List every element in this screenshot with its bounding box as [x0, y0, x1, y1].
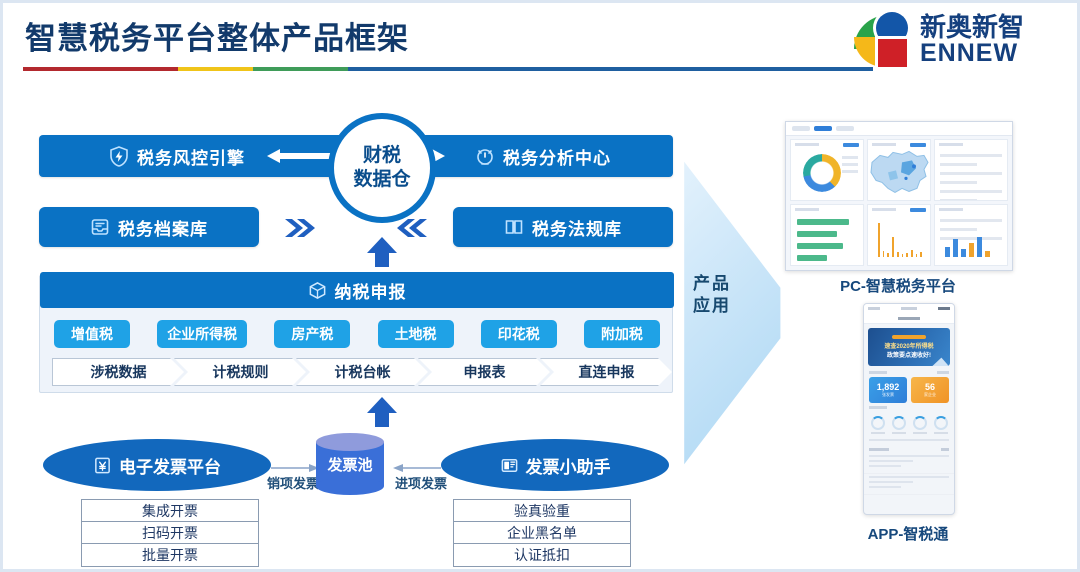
- app-phone-mockup[interactable]: 速查2020年所得税 政策要点速收好! 1,892 张发票 56 家企业: [863, 303, 955, 515]
- input-invoice-label: 进项发票: [395, 473, 447, 492]
- flow-step[interactable]: 计税规则: [174, 358, 306, 386]
- invoice-assistant-label: 发票小助手: [526, 453, 611, 478]
- invoice-pool-cylinder[interactable]: 发票池: [316, 433, 384, 495]
- banner-line-1: 速查2020年所得税: [884, 341, 933, 350]
- list-item[interactable]: 集成开票: [82, 500, 258, 522]
- rule-segment-yellow: [178, 67, 253, 71]
- e-invoice-platform-label: 电子发票平台: [119, 453, 221, 478]
- receipt-scan-icon: [500, 456, 519, 475]
- arrow-up-to-core-icon: [366, 237, 398, 267]
- pc-mock-donut-card: [790, 139, 864, 201]
- tax-regulation-button[interactable]: 税务法规库: [453, 207, 673, 247]
- archive-tray-icon: [90, 217, 110, 237]
- stat-secondary-key: 家企业: [924, 392, 936, 398]
- list-item[interactable]: [864, 453, 954, 474]
- pc-mock-grid: [790, 139, 1008, 266]
- logo-chinese-name: 新奥新智: [920, 14, 1024, 41]
- page-title: 智慧税务平台整体产品框架: [25, 13, 409, 58]
- pc-mock-pill: [836, 126, 854, 131]
- pc-dashboard-mockup[interactable]: [785, 121, 1013, 271]
- analysis-center-label: 税务分析中心: [503, 144, 611, 169]
- connector-label-line1: 产品: [693, 273, 731, 295]
- app-status-bar: [864, 304, 954, 313]
- pc-mock-bars-h-card: [790, 204, 864, 266]
- tax-declaration-header[interactable]: 纳税申报: [40, 272, 674, 308]
- bar-chart-icon: [878, 215, 922, 257]
- logo-english-name: ENNEW: [920, 41, 1024, 67]
- tax-chip[interactable]: 房产税: [274, 320, 350, 348]
- arrow-left-to-risk-engine: [267, 149, 331, 163]
- tax-chip[interactable]: 附加税: [584, 320, 660, 348]
- core-line-1: 财税: [363, 144, 401, 168]
- pc-mock-list-card: [934, 139, 1008, 201]
- invoice-assistant-node[interactable]: 发票小助手: [441, 439, 669, 491]
- tax-chip[interactable]: 增值税: [54, 320, 130, 348]
- arrow-input-invoice: [393, 463, 441, 473]
- tax-declaration-panel: 纳税申报 增值税 企业所得税 房产税 土地税 印花税 附加税 涉税数据 计税规则…: [39, 275, 673, 393]
- list-item[interactable]: 扫码开票: [82, 522, 258, 544]
- app-product-caption: APP-智税通: [833, 523, 983, 544]
- architecture-diagram: 税务风控引擎: [31, 125, 681, 565]
- app-stat-cards: 1,892 张发票 56 家企业: [864, 375, 954, 405]
- app-article-list-header: [864, 446, 954, 453]
- declaration-flow-steps: 涉税数据 计税规则 计税台帐 申报表 直连申报: [52, 358, 662, 386]
- title-underline-rule: [23, 67, 873, 71]
- app-stat-card-secondary[interactable]: 56 家企业: [911, 377, 949, 403]
- chevron-right-icon: [283, 217, 315, 239]
- banner-line-2: 政策要点速收好!: [887, 350, 931, 359]
- rule-segment-red: [23, 67, 178, 71]
- pc-mock-topbar: [786, 122, 1012, 136]
- flow-step[interactable]: 直连申报: [540, 358, 672, 386]
- list-item[interactable]: 批量开票: [82, 544, 258, 566]
- ennew-logo-mark-icon: [852, 11, 914, 69]
- package-box-icon: [308, 281, 327, 300]
- tax-chip[interactable]: 土地税: [378, 320, 454, 348]
- risk-engine-label: 税务风控引擎: [137, 144, 245, 169]
- stat-primary-value: 1,892: [877, 382, 900, 392]
- gauge-ring-icon: [871, 416, 885, 430]
- shield-bolt-icon: [109, 146, 129, 167]
- list-item[interactable]: 验真验重: [454, 500, 630, 522]
- tax-archive-button[interactable]: 税务档案库: [39, 207, 259, 247]
- list-item[interactable]: 认证抵扣: [454, 544, 630, 566]
- app-notice-strip: [864, 437, 954, 446]
- tax-declaration-title: 纳税申报: [335, 278, 407, 303]
- e-invoice-platform-node[interactable]: 电子发票平台: [43, 439, 271, 491]
- gauge-ring-icon: [892, 416, 906, 430]
- donut-chart-icon: [803, 154, 841, 192]
- risk-engine-item[interactable]: 税务风控引擎: [109, 135, 245, 177]
- tax-chip[interactable]: 印花税: [481, 320, 557, 348]
- invoice-layer: 电子发票平台 销项发票 发票池 进项发票: [39, 427, 673, 565]
- app-promo-banner[interactable]: 速查2020年所得税 政策要点速收好!: [868, 328, 950, 366]
- rule-segment-green: [253, 67, 348, 71]
- yuan-invoice-icon: [93, 456, 112, 475]
- list-item[interactable]: 企业黑名单: [454, 522, 630, 544]
- pc-mock-bars-v-card: [867, 204, 931, 266]
- tax-type-chip-list: 增值税 企业所得税 房产税 土地税 印花税 附加税: [54, 320, 660, 348]
- flow-step[interactable]: 涉税数据: [52, 358, 184, 386]
- core-data-warehouse[interactable]: 财税 数据仓: [328, 113, 436, 223]
- arrow-output-invoice: [271, 463, 319, 473]
- app-nav-bar: [864, 313, 954, 324]
- app-stat-card-primary[interactable]: 1,892 张发票: [869, 377, 907, 403]
- pc-mock-mixed-card: [934, 204, 1008, 266]
- pc-mock-pill-active: [814, 126, 832, 131]
- list-item[interactable]: [864, 474, 954, 495]
- gauge-ring-icon: [913, 416, 927, 430]
- slide-canvas: 智慧税务平台整体产品框架 新奥新智 ENNEW: [0, 0, 1080, 572]
- chevron-left-icon: [397, 217, 429, 239]
- stat-secondary-value: 56: [925, 382, 935, 392]
- banner-tag: [892, 335, 926, 339]
- gauge-ring-icon: [934, 416, 948, 430]
- slide-header: 智慧税务平台整体产品框架 新奥新智 ENNEW: [3, 3, 1077, 81]
- book-icon: [504, 217, 524, 237]
- invoice-pool-label: 发票池: [316, 449, 384, 479]
- tax-archive-label: 税务档案库: [118, 215, 208, 240]
- app-gauge-row: [864, 410, 954, 432]
- arrow-up-to-declaration-icon: [366, 397, 398, 427]
- flow-step[interactable]: 计税台帐: [296, 358, 428, 386]
- brand-logo: 新奥新智 ENNEW: [852, 5, 1067, 75]
- pc-product-caption: PC-智慧税务平台: [773, 275, 1023, 296]
- invoice-assistant-feature-list: 验真验重 企业黑名单 认证抵扣: [453, 499, 631, 567]
- tax-regulation-label: 税务法规库: [532, 215, 622, 240]
- stat-primary-key: 张发票: [882, 392, 894, 398]
- analysis-center-item[interactable]: 税务分析中心: [475, 135, 611, 177]
- rule-segment-blue: [348, 67, 873, 71]
- pc-mock-pill: [792, 126, 810, 131]
- china-map-icon: [867, 142, 931, 201]
- output-invoice-label: 销项发票: [267, 473, 319, 492]
- pc-mock-map-card: [867, 139, 931, 201]
- connector-label-line2: 应用: [693, 295, 731, 317]
- gauge-icon: [475, 146, 495, 167]
- flow-step[interactable]: 申报表: [418, 358, 550, 386]
- tax-chip[interactable]: 企业所得税: [157, 320, 247, 348]
- core-line-2: 数据仓: [353, 168, 410, 192]
- connector-label: 产品 应用: [693, 273, 731, 317]
- invoice-platform-feature-list: 集成开票 扫码开票 批量开票: [81, 499, 259, 567]
